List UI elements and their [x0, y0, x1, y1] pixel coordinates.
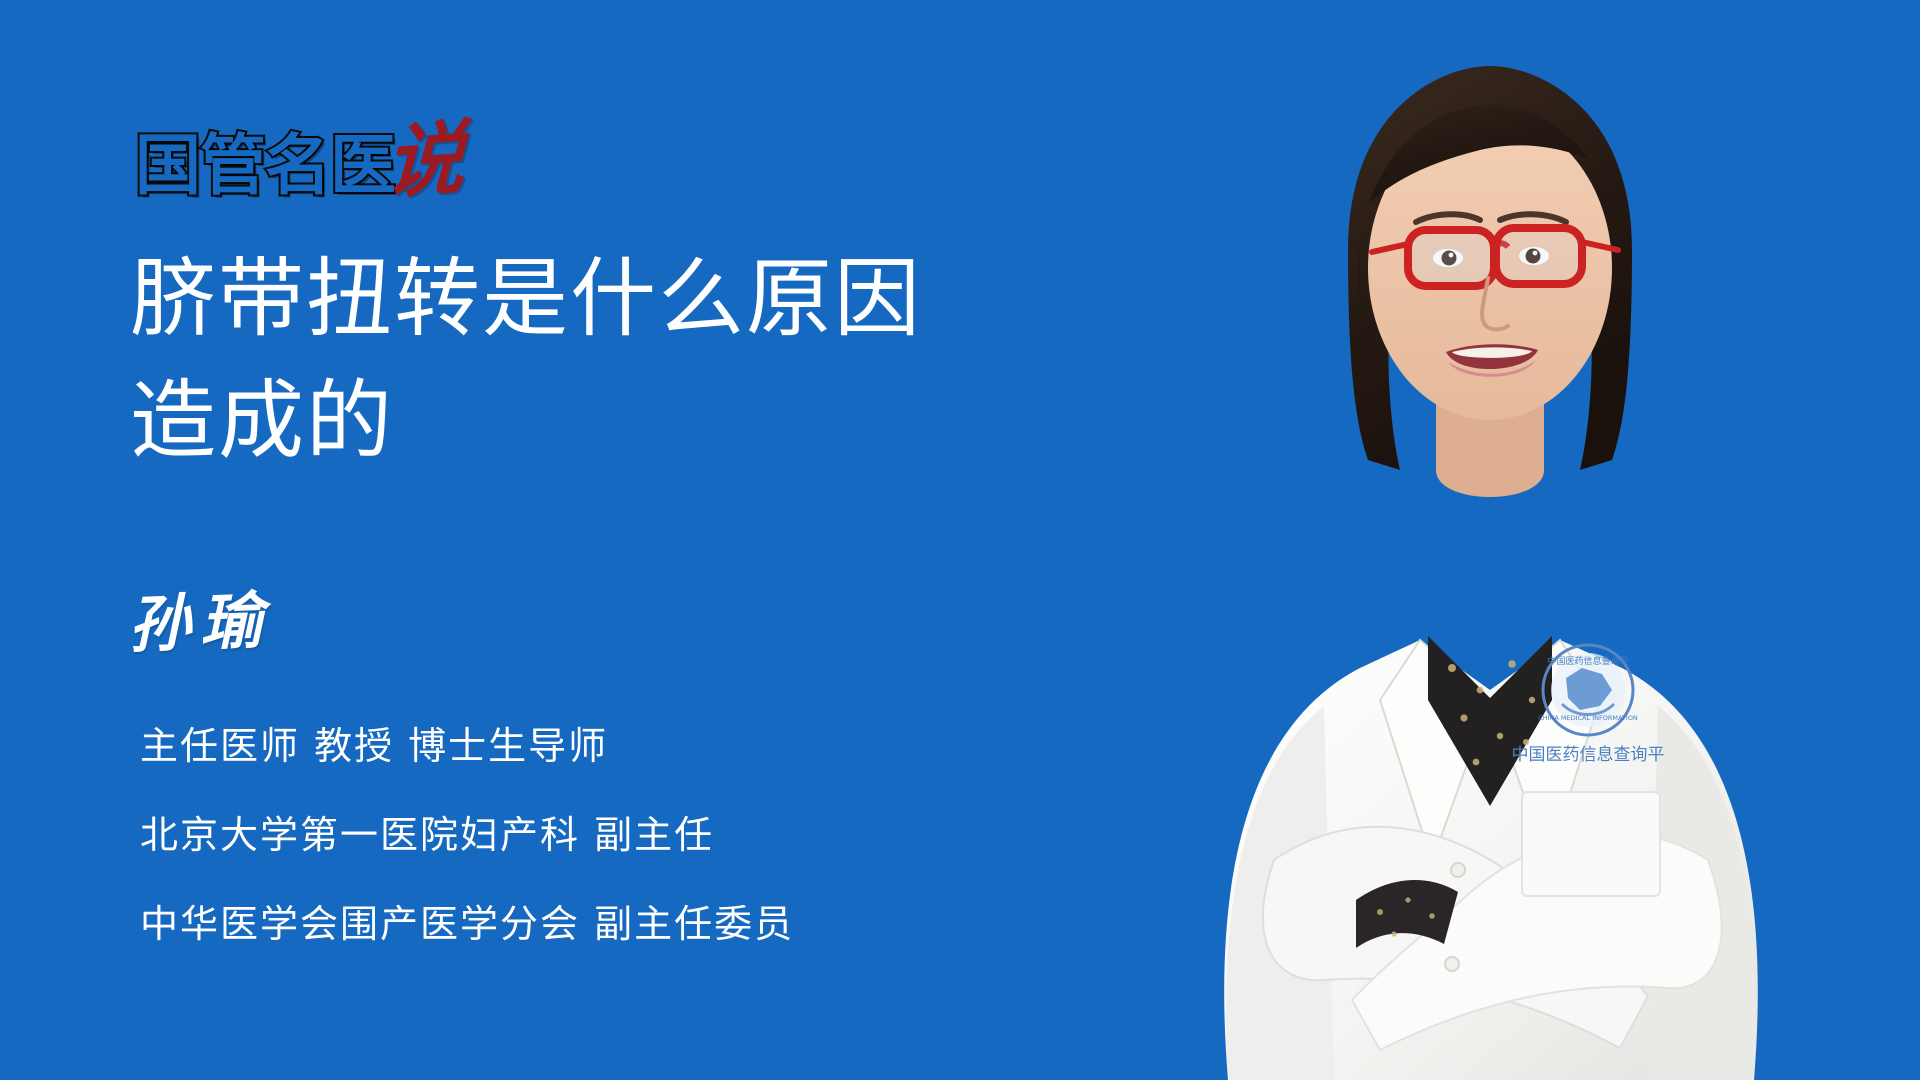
program-logo: 国管名医 说 — [135, 96, 465, 212]
credential-line-3: 中华医学会围产医学分会 副主任委员 — [140, 893, 794, 948]
video-cover-slide: 国管名医 说 脐带扭转是什么原因 造成的 孙瑜 主任医师 教授 博士生导师 北京… — [0, 0, 1920, 1080]
page-title-line-1: 脐带扭转是什么原因 — [130, 238, 922, 360]
doctor-portrait: 中国医药信息查询平 CHINA MEDICAL INFORMATION 中国医药… — [1060, 0, 1920, 1080]
doctor-credentials: 主任医师 教授 博士生导师 北京大学第一医院妇产科 副主任 中华医学会围产医学分… — [140, 715, 794, 948]
svg-text:中国医药信息查询平: 中国医药信息查询平 — [1547, 655, 1628, 667]
hospital-badge: 中国医药信息查询平 CHINA MEDICAL INFORMATION — [1538, 645, 1638, 735]
program-logo-accent-text: 说 — [383, 93, 467, 215]
doctor-head — [1344, 66, 1636, 470]
svg-text:CHINA MEDICAL INFORMATION: CHINA MEDICAL INFORMATION — [1538, 714, 1638, 722]
credential-line-2: 北京大学第一医院妇产科 副主任 — [140, 804, 794, 859]
page-title-line-2: 造成的 — [130, 360, 922, 482]
credential-line-1: 主任医师 教授 博士生导师 — [140, 715, 794, 770]
white-coat — [1224, 636, 1758, 1080]
program-logo-main-text: 国管名医 — [135, 112, 395, 208]
red-glasses — [1372, 228, 1618, 286]
badge-caption: 中国医药信息查询平 — [1512, 745, 1665, 765]
page-title: 脐带扭转是什么原因 造成的 — [130, 238, 922, 482]
doctor-name: 孙瑜 — [126, 570, 273, 665]
